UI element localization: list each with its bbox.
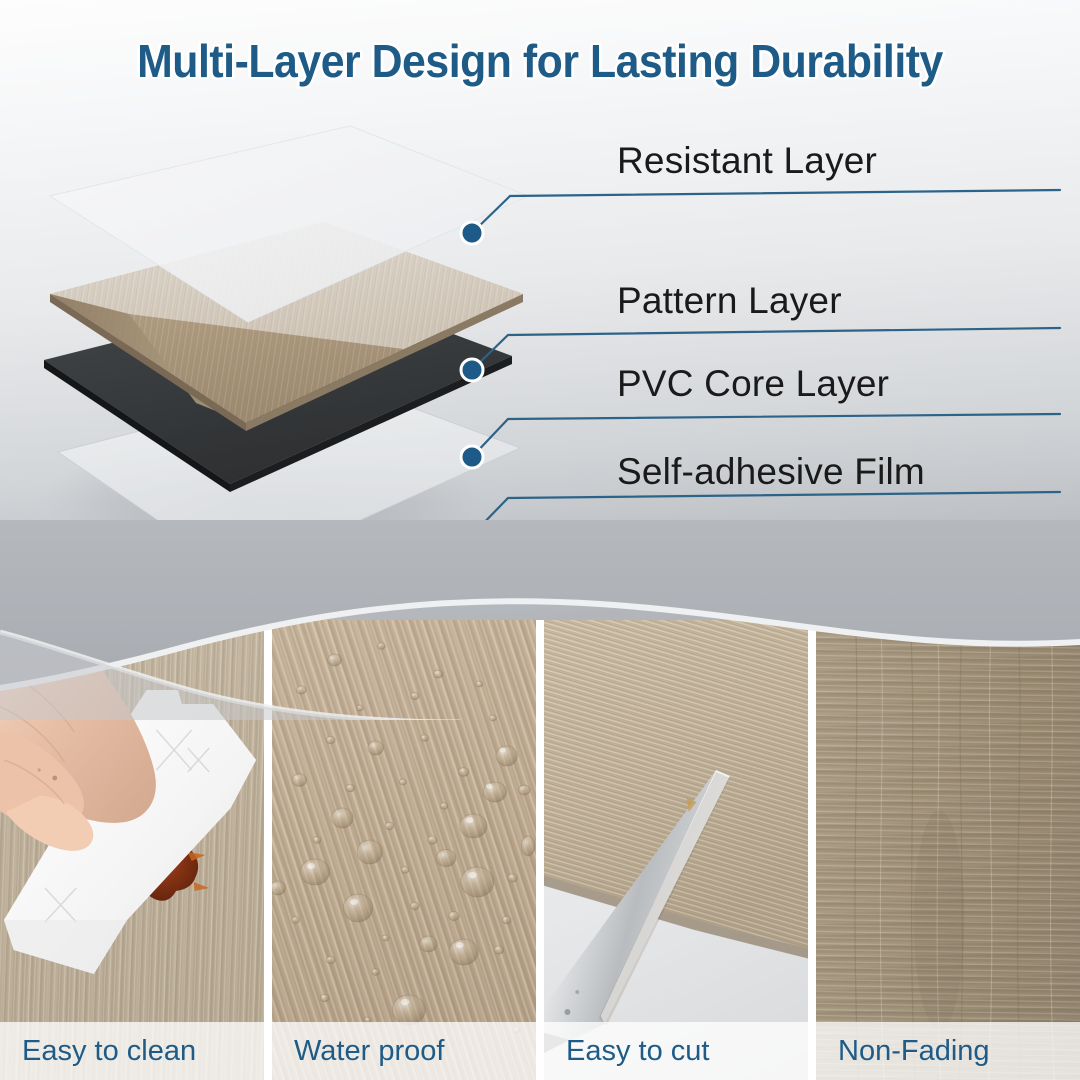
feature-panel-water-proof: Water proof <box>272 620 536 1080</box>
callout-dot-pvc-core <box>461 446 483 468</box>
caption-easy-to-cut: Easy to cut <box>544 1035 709 1068</box>
caption-band-non-fading: Non-Fading <box>816 1022 1080 1080</box>
caption-band-easy-to-cut: Easy to cut <box>544 1022 808 1080</box>
callout-dot-pattern <box>461 359 483 381</box>
feature-panel-easy-to-clean: Easy to clean <box>0 620 264 1080</box>
caption-non-fading: Non-Fading <box>816 1035 990 1068</box>
water-droplets <box>272 643 535 1033</box>
callout-dot-resistant <box>461 222 483 244</box>
caption-band-water-proof: Water proof <box>272 1022 536 1080</box>
photo-water-droplets <box>272 620 536 1080</box>
callout-label-pattern: Pattern Layer <box>617 280 842 322</box>
photo-knife-cutting-plank <box>544 620 808 1080</box>
photo-hand-wiping-stain <box>0 620 264 1080</box>
layer-diagram-section: Multi-Layer Design for Lasting Durabilit… <box>0 0 1080 660</box>
infographic-canvas: Multi-Layer Design for Lasting Durabilit… <box>0 0 1080 1080</box>
callout-label-resistant: Resistant Layer <box>617 140 877 182</box>
caption-band-easy-to-clean: Easy to clean <box>0 1022 264 1080</box>
feature-panel-non-fading: Non-Fading <box>816 620 1080 1080</box>
photo-vertical-grain-plank <box>816 620 1080 1080</box>
wood-plank <box>544 620 808 960</box>
exploded-layer-stack <box>0 0 1080 660</box>
feature-panel-easy-to-cut: Easy to cut <box>544 620 808 1080</box>
caption-easy-to-clean: Easy to clean <box>0 1035 196 1068</box>
caption-water-proof: Water proof <box>272 1035 444 1068</box>
callout-label-pvc-core: PVC Core Layer <box>617 363 889 405</box>
callout-dot-self-adhesive <box>461 524 483 546</box>
callout-label-self-adhesive: Self-adhesive Film <box>617 451 925 493</box>
feature-panel-strip: Easy to clean <box>0 620 1080 1080</box>
